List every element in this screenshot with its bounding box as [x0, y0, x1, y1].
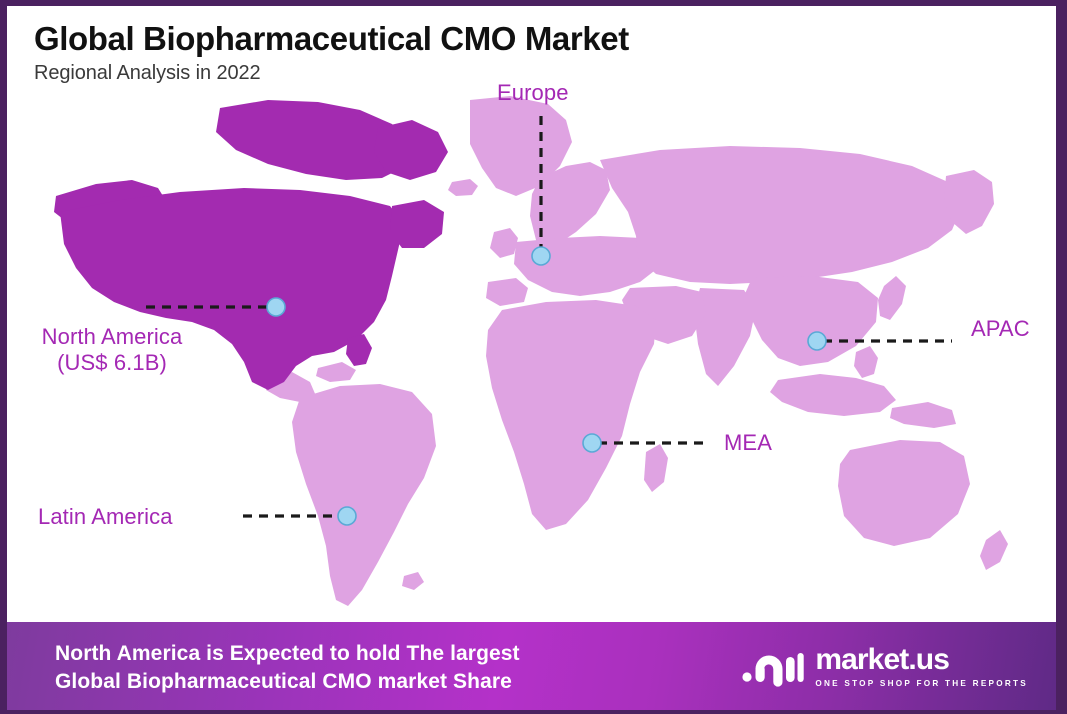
region-caribbean	[316, 362, 356, 382]
banner-message: North America is Expected to hold The la…	[55, 640, 520, 695]
frame-border-left	[0, 0, 7, 714]
footer-banner: North America is Expected to hold The la…	[7, 622, 1056, 710]
region-madagascar	[644, 444, 668, 492]
marker-apac[interactable]	[808, 332, 826, 350]
marker-europe[interactable]	[532, 247, 550, 265]
infographic-root: Global Biopharmaceutical CMO Market Regi…	[0, 0, 1067, 714]
label-latin-america: Latin America	[38, 504, 173, 530]
label-apac: APAC	[971, 316, 1030, 342]
logo-wordmark: market.us	[815, 645, 1028, 675]
frame-border-bottom	[0, 710, 1067, 714]
banner-line-2: Global Biopharmaceutical CMO market Shar…	[55, 668, 520, 696]
label-north-america: North America (US$ 6.1B)	[12, 324, 212, 376]
marker-mea[interactable]	[583, 434, 601, 452]
region-africa	[486, 300, 656, 530]
frame-border-right	[1056, 0, 1067, 714]
label-north-america-value: (US$ 6.1B)	[12, 350, 212, 376]
region-sw-atlantic-islands	[402, 572, 424, 590]
region-south-america	[292, 384, 436, 606]
region-japan	[878, 276, 906, 320]
label-mea: MEA	[724, 430, 772, 456]
market-us-logo-mark-icon	[742, 644, 804, 688]
region-iceland	[448, 179, 478, 196]
region-new-zealand	[980, 530, 1008, 570]
marker-latin-america[interactable]	[338, 507, 356, 525]
logo-tagline: ONE STOP SHOP FOR THE REPORTS	[815, 679, 1028, 688]
region-new-guinea	[890, 402, 956, 428]
banner-line-1: North America is Expected to hold The la…	[55, 642, 520, 665]
page-title: Global Biopharmaceutical CMO Market	[34, 20, 854, 58]
region-labrador	[390, 200, 444, 248]
region-florida	[346, 334, 372, 366]
label-europe: Europe	[497, 80, 569, 106]
logo-text: market.us ONE STOP SHOP FOR THE REPORTS	[815, 645, 1028, 688]
header: Global Biopharmaceutical CMO Market Regi…	[34, 20, 854, 85]
region-iberia	[486, 278, 528, 306]
region-russia-north-asia	[600, 146, 962, 284]
label-north-america-name: North America	[12, 324, 212, 350]
region-philippines	[854, 346, 878, 378]
region-southeast-asia-islands	[770, 374, 896, 416]
brand-logo[interactable]: market.us ONE STOP SHOP FOR THE REPORTS	[742, 644, 1028, 688]
marker-north-america[interactable]	[267, 298, 285, 316]
frame-border-top	[0, 0, 1067, 6]
page-subtitle: Regional Analysis in 2022	[34, 62, 854, 85]
region-british-isles	[490, 228, 518, 258]
region-australia	[838, 440, 970, 546]
